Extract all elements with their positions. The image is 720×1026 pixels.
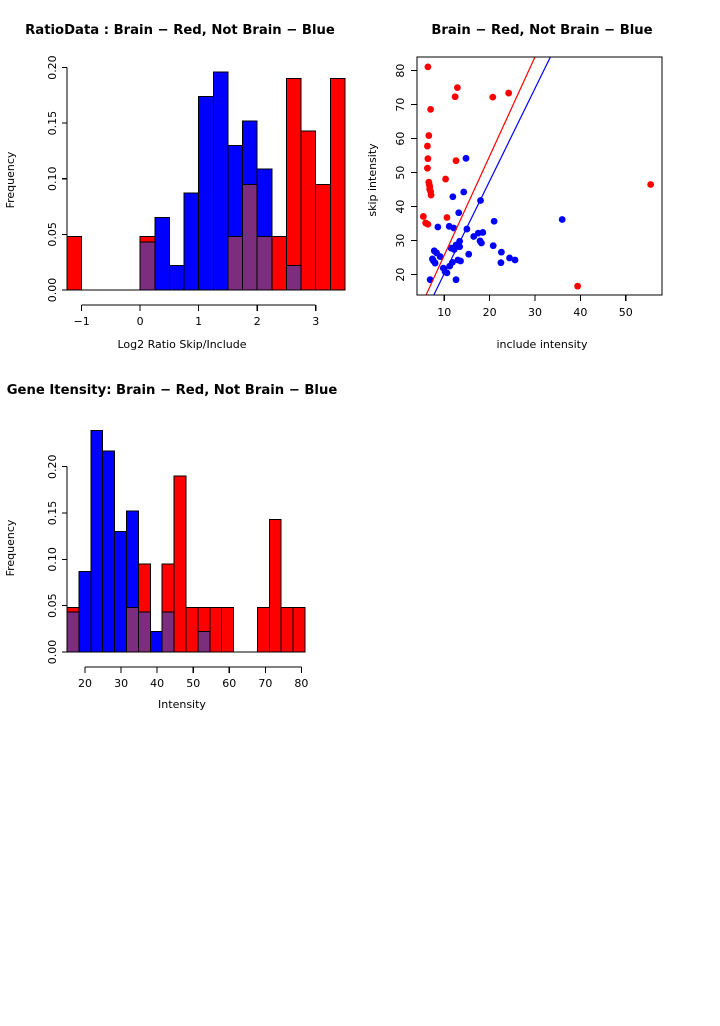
tick-label: 30 (528, 306, 542, 319)
ratio-histogram-svg: RatioData : Brain − Red, Not Brain − Blu… (0, 0, 360, 360)
regression-line (426, 57, 535, 295)
histogram-bar-overlap (198, 632, 210, 652)
scatter-point (427, 106, 434, 113)
tick-label: 2 (254, 315, 261, 328)
tick-label: 0.00 (46, 278, 59, 303)
histogram-bar-overlap (162, 612, 174, 652)
scatter-point (434, 224, 441, 231)
scatter-point (465, 251, 472, 258)
ratio-histogram-xlabel: Log2 Ratio Skip/Include (117, 338, 246, 351)
histogram-bar-overlap (140, 242, 155, 290)
scatter-point (420, 213, 427, 220)
panel-gene-histogram: Gene Itensity: Brain − Red, Not Brain − … (0, 360, 360, 720)
scatter-point (460, 189, 467, 196)
histogram-bar-red (269, 520, 281, 652)
tick-label: 70 (258, 677, 272, 690)
panel-intensity-scatter: Brain − Red, Not Brain − Blue include in… (360, 0, 720, 360)
histogram-bar-red (330, 79, 345, 290)
tick-label: 1 (195, 315, 202, 328)
scatter-point (512, 257, 519, 264)
tick-label: 0.20 (46, 454, 59, 479)
scatter-point (498, 259, 505, 266)
scatter-axes: 203040506070801020304050 (394, 57, 662, 319)
histogram-bar-red (174, 476, 186, 652)
scatter-plot-area (420, 57, 654, 295)
histogram-bar-blue (169, 266, 184, 290)
scatter-point (424, 63, 431, 70)
scatter-point (449, 193, 456, 200)
panel-ratio-histogram: RatioData : Brain − Red, Not Brain − Blu… (0, 0, 360, 360)
scatter-point (444, 214, 451, 221)
tick-label: 0.10 (46, 167, 59, 192)
tick-label: −1 (74, 315, 90, 328)
scatter-point (424, 165, 431, 172)
histogram-bar-blue (213, 72, 228, 290)
histogram-bar-red (293, 608, 305, 652)
tick-label: 0.10 (46, 547, 59, 572)
tick-label: 0.05 (46, 222, 59, 247)
scatter-point (559, 216, 566, 223)
scatter-point (457, 258, 464, 265)
tick-label: 0.00 (46, 640, 59, 665)
tick-label: 20 (78, 677, 92, 690)
histogram-bar-red (316, 184, 331, 290)
figure-root: RatioData : Brain − Red, Not Brain − Blu… (0, 0, 720, 720)
scatter-point (463, 155, 470, 162)
scatter-point (455, 209, 462, 216)
scatter-point (453, 157, 460, 164)
tick-label: 40 (150, 677, 164, 690)
tick-label: 40 (573, 306, 587, 319)
gene-histogram-xlabel: Intensity (158, 698, 206, 711)
histogram-bar-overlap (257, 237, 272, 290)
tick-label: 30 (114, 677, 128, 690)
scatter-xlabel: include intensity (496, 338, 588, 351)
histogram-bar-overlap (243, 184, 258, 290)
tick-label: 0.15 (46, 111, 59, 136)
scatter-point (647, 181, 654, 188)
tick-label: 0.05 (46, 593, 59, 618)
scatter-point (432, 260, 439, 267)
histogram-bar-red (210, 608, 222, 652)
histogram-bar-red (257, 608, 269, 652)
tick-label: 0 (137, 315, 144, 328)
scatter-point (470, 233, 477, 240)
scatter-title: Brain − Red, Not Brain − Blue (431, 23, 652, 38)
gene-histogram-ylabel: Frequency (4, 519, 17, 576)
histogram-bar-blue (150, 632, 162, 652)
tick-label: 40 (394, 200, 407, 214)
histogram-bar-blue (155, 218, 170, 290)
scatter-point (452, 93, 459, 100)
histogram-bar-blue (103, 451, 115, 652)
tick-label: 3 (312, 315, 319, 328)
histogram-bar-red (272, 237, 287, 290)
scatter-point (490, 242, 497, 249)
ratio-histogram-bars (67, 72, 345, 290)
tick-label: 50 (619, 306, 633, 319)
scatter-point (479, 229, 486, 236)
histogram-bar-blue (79, 571, 91, 652)
intensity-scatter-svg: Brain − Red, Not Brain − Blue include in… (360, 0, 720, 360)
tick-label: 0.20 (46, 55, 59, 80)
histogram-bar-blue (115, 532, 127, 652)
scatter-point (498, 249, 505, 256)
tick-label: 70 (394, 98, 407, 112)
ratio-histogram-title: RatioData : Brain − Red, Not Brain − Blu… (25, 23, 335, 38)
histogram-bar-overlap (138, 612, 150, 652)
histogram-bar-red (301, 131, 316, 290)
scatter-point (491, 218, 498, 225)
scatter-point (424, 221, 431, 228)
histogram-bar-blue (199, 96, 214, 290)
tick-label: 60 (394, 132, 407, 146)
histogram-bar-overlap (67, 612, 79, 652)
scatter-points-group (420, 57, 654, 295)
scatter-point (424, 155, 431, 162)
scatter-point (442, 176, 449, 183)
scatter-point (424, 143, 431, 150)
scatter-point (425, 132, 432, 139)
regression-line (434, 57, 551, 295)
tick-label: 30 (394, 234, 407, 248)
scatter-point (489, 94, 496, 101)
gene-histogram-svg: Gene Itensity: Brain − Red, Not Brain − … (0, 360, 360, 720)
scatter-point (505, 90, 512, 97)
tick-label: 60 (222, 677, 236, 690)
tick-label: 10 (437, 306, 451, 319)
scatter-point (574, 283, 581, 290)
histogram-bar-overlap (127, 608, 139, 652)
tick-label: 80 (294, 677, 308, 690)
scatter-point (453, 276, 460, 283)
scatter-ylabel: skip intensity (366, 143, 379, 217)
tick-label: 20 (394, 268, 407, 282)
histogram-bar-blue (184, 193, 199, 290)
gene-histogram-title: Gene Itensity: Brain − Red, Not Brain − … (7, 383, 338, 398)
tick-label: 20 (483, 306, 497, 319)
scatter-point (478, 240, 485, 247)
scatter-point (428, 192, 435, 199)
tick-label: 80 (394, 64, 407, 78)
histogram-bar-red (186, 608, 198, 652)
histogram-bar-red (222, 608, 234, 652)
scatter-point (454, 84, 461, 91)
panel-info: G7248618@J943632_RC@j_at altTxStart Igf2… (360, 360, 720, 720)
gene-histogram-bars (67, 431, 305, 652)
histogram-bar-overlap (228, 237, 243, 290)
histogram-bar-overlap (286, 266, 301, 290)
histogram-bar-red (281, 608, 293, 652)
tick-label: 0.15 (46, 501, 59, 526)
tick-label: 50 (394, 166, 407, 180)
histogram-bar-red (67, 237, 82, 290)
tick-label: 50 (186, 677, 200, 690)
histogram-bar-blue (91, 431, 103, 652)
ratio-histogram-ylabel: Frequency (4, 151, 17, 208)
histogram-bar-red (286, 79, 301, 290)
